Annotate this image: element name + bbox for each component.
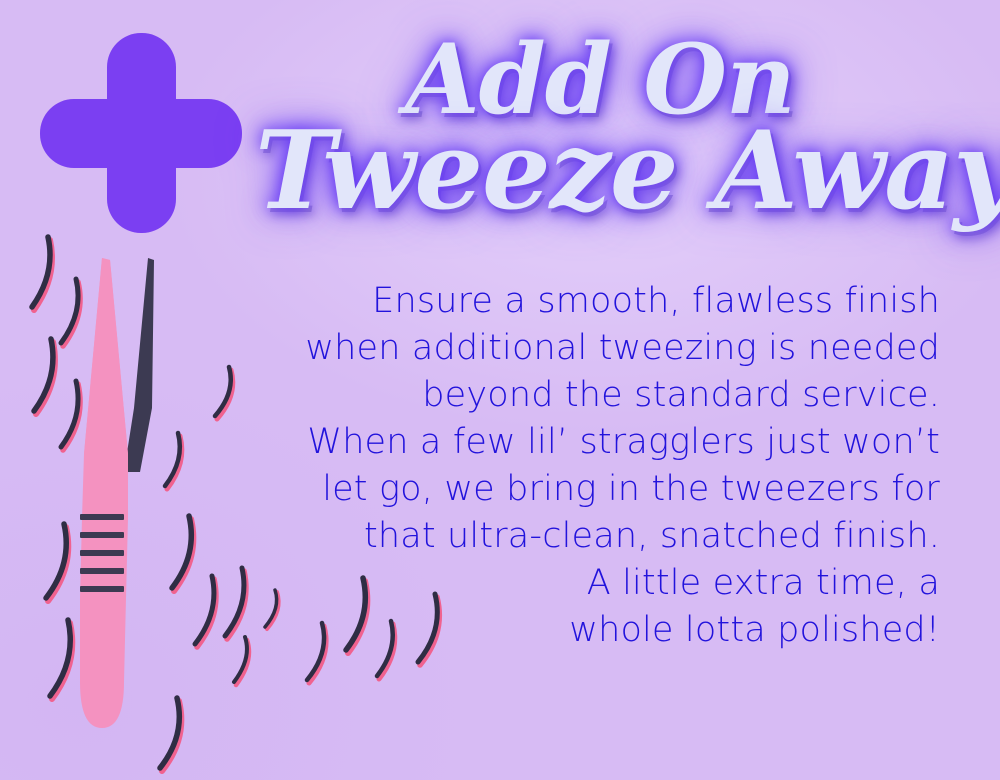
hair-strand [40, 614, 82, 706]
headline: Add On Tweeze Away [255, 34, 945, 224]
headline-line-2: Tweeze Away [255, 120, 945, 224]
body-line: When a few lil’ stragglers just won’t [170, 419, 940, 466]
plus-icon [40, 33, 242, 233]
poster-canvas: Add On Tweeze Away Ensure a smooth, flaw… [0, 0, 1000, 780]
body-line: Ensure a smooth, flawless finish [170, 278, 940, 325]
body-line: when additional tweezing is needed [170, 325, 940, 372]
body-line: beyond the standard service. [170, 372, 940, 419]
hair-strand [36, 518, 78, 608]
plus-icon-horizontal-bar [40, 99, 242, 168]
body-line: A little extra time, a [170, 560, 940, 607]
tweezer-pink-taper [84, 258, 128, 454]
body-line: let go, we bring in the tweezers for [170, 466, 940, 513]
body-copy: Ensure a smooth, flawless finish when ad… [170, 278, 940, 655]
body-line: whole lotta polished! [170, 607, 940, 654]
hair-strand [150, 692, 192, 778]
tweezer-dark-arm [124, 258, 154, 472]
hair-strand [52, 376, 90, 456]
body-line: that ultra-clean, snatched finish. [170, 513, 940, 560]
